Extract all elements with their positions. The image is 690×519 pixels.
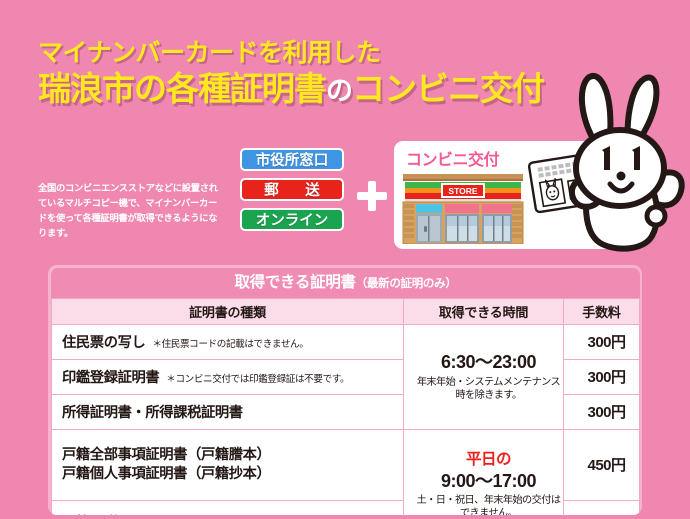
column-header-type: 証明書の種類 <box>52 299 404 325</box>
available-hours-note: 土・日・祝日、年末年始の交付はできません。 <box>414 494 563 515</box>
table-header-row: 証明書の種類 取得できる時間 手数料 <box>52 299 640 325</box>
cell-certificate-name: 戸籍全部事項証明書（戸籍謄本） 戸籍個人事項証明書（戸籍抄本） <box>52 429 404 501</box>
cell-certificate-name: 住民票の写し＊住民票コードの記載はできません。 <box>52 325 404 360</box>
cell-certificate-name: 印鑑登録証明書＊コンビニ交付では印鑑登録証は不要です。 <box>52 359 404 394</box>
headline-line-2-part-1: 瑞浪市の各種証明書 <box>38 70 326 107</box>
cell-fee: 300円 <box>564 325 640 360</box>
poster-root: マイナンバーカードを利用した 瑞浪市の各種証明書のコンビニ交付 全国のコンビニエ… <box>0 0 690 519</box>
headline-line-2-part-2: コンビニ交付 <box>352 70 544 107</box>
table-title-main: 取得できる証明書 <box>234 274 355 291</box>
channel-list: 市役所窓口 郵 送 オンライン <box>240 148 344 231</box>
store-sign-text: STORE <box>448 186 477 196</box>
headline-line-1: マイナンバーカードを利用した <box>38 40 578 67</box>
column-header-fee: 手数料 <box>564 299 640 325</box>
certificate-name-line-2: 戸籍個人事項証明書（戸籍抄本） <box>62 465 403 484</box>
certificate-name: 印鑑登録証明書 <box>62 370 159 386</box>
cell-fee: 300円 <box>564 394 640 429</box>
certificate-name: 戸籍全部事項証明書（戸籍謄本） <box>62 446 403 465</box>
available-hours: 9:00〜17:00 <box>414 470 563 493</box>
headline-line-2: 瑞浪市の各種証明書のコンビニ交付 <box>38 71 578 107</box>
cell-fee: 300円 <box>564 501 640 515</box>
table-row: 住民票の写し＊住民票コードの記載はできません。 6:30〜23:00 年末年始・… <box>52 325 640 360</box>
certificate-table-wrapper: 取得できる証明書（最新の証明のみ） 証明書の種類 取得できる時間 手数料 住民票… <box>48 265 642 515</box>
page-title: マイナンバーカードを利用した 瑞浪市の各種証明書のコンビニ交付 <box>38 40 578 107</box>
certificate-note: ＊住民票コードの記載はできません。 <box>152 339 308 350</box>
certificate-table: 取得できる証明書（最新の証明のみ） 証明書の種類 取得できる時間 手数料 住民票… <box>51 268 640 515</box>
description-text: 全国のコンビニエンスストアなどに設置されているマルチコピー機で、マイナンバーカー… <box>38 181 223 241</box>
certificate-name: 所得証明書・所得課税証明書 <box>62 405 243 421</box>
column-header-time: 取得できる時間 <box>404 299 564 325</box>
cell-certificate-name: 所得証明書・所得課税証明書 <box>52 394 404 429</box>
cell-available-time: 平日の 9:00〜17:00 土・日・祝日、年末年始の交付はできません。 <box>404 429 564 515</box>
available-days-prefix: 平日の <box>414 450 563 469</box>
cell-fee: 450円 <box>564 429 640 501</box>
panel-label: コンビニ交付 <box>406 146 499 170</box>
cell-fee: 300円 <box>564 359 640 394</box>
available-hours-note: 年末年始・システムメンテナンス時を除きます。 <box>414 376 563 402</box>
table-row: 戸籍全部事項証明書（戸籍謄本） 戸籍個人事項証明書（戸籍抄本） 平日の 9:00… <box>52 429 640 501</box>
plus-icon <box>357 181 387 211</box>
cell-certificate-name: 戸籍の附票の写し <box>52 501 404 515</box>
table-title: 取得できる証明書（最新の証明のみ） <box>51 268 640 298</box>
available-hours: 6:30〜23:00 <box>414 351 563 374</box>
headline-line-2-joiner: の <box>326 76 352 106</box>
channel-badge-online: オンライン <box>240 208 344 231</box>
channel-badge-mail: 郵 送 <box>240 178 344 201</box>
channel-badge-city-hall: 市役所窓口 <box>240 148 344 171</box>
table-title-note: （最新の証明のみ） <box>356 278 457 290</box>
certificate-note: ＊コンビニ交付では印鑑登録証は不要です。 <box>166 374 349 385</box>
rabbit-mascot-icon <box>552 58 690 258</box>
certificate-name: 住民票の写し <box>62 335 145 351</box>
convenience-store-icon: STORE <box>401 174 525 244</box>
cell-available-time: 6:30〜23:00 年末年始・システムメンテナンス時を除きます。 <box>404 325 564 430</box>
